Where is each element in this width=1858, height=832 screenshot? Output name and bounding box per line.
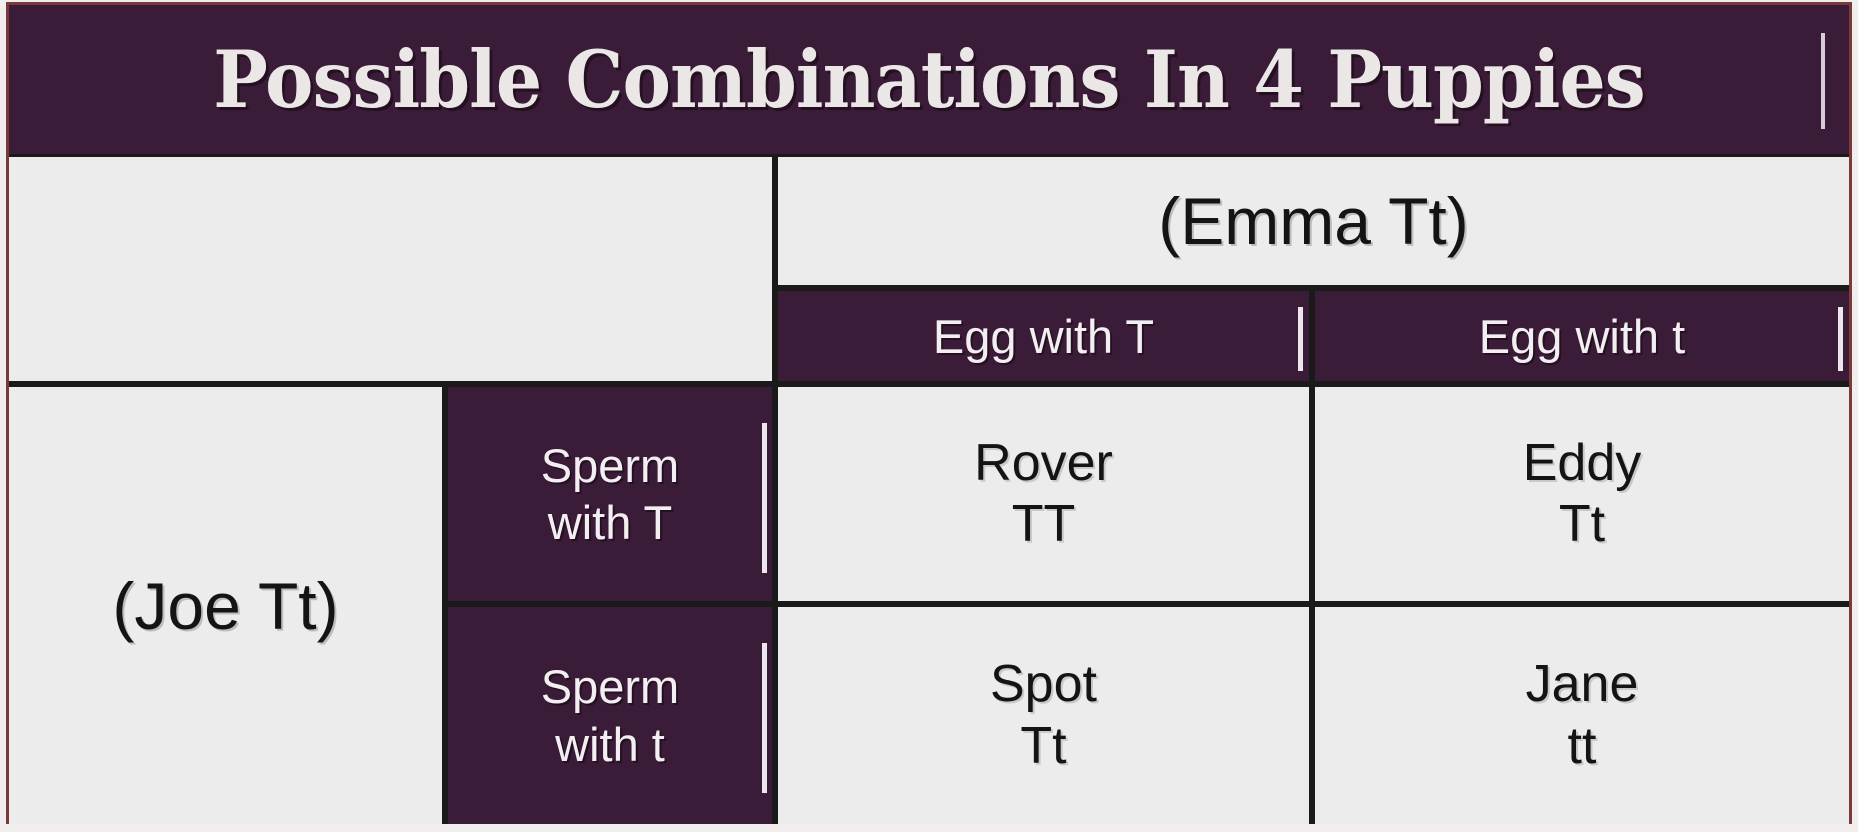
row-header-sperm-with-T-text: Sperm with T <box>541 437 679 552</box>
offspring-cell: Spot Tt <box>775 604 1312 824</box>
punnett-square-table: Possible Combinations In 4 Puppies (Emma… <box>6 2 1852 824</box>
row-header-sperm-with-t-text: Sperm with t <box>541 658 679 773</box>
column-header-egg-with-T-label: Egg with T <box>933 309 1154 364</box>
row-header-sperm-with-T: Sperm with T <box>445 384 775 604</box>
page-title: Possible Combinations In 4 Puppies <box>213 33 1645 126</box>
column-header-egg-with-T: Egg with T <box>775 288 1312 384</box>
offspring-name: Eddy <box>1523 433 1642 494</box>
offspring-genotype: TT <box>974 494 1113 555</box>
offspring-genotype: tt <box>1526 716 1639 777</box>
offspring-name: Jane <box>1526 654 1639 715</box>
table-title-bar: Possible Combinations In 4 Puppies <box>9 5 1849 157</box>
row-header-line-2: with t <box>541 716 679 773</box>
offspring-genotype: Tt <box>990 716 1097 777</box>
row-header-line-2: with T <box>541 494 679 551</box>
row-header-tick <box>762 423 767 573</box>
offspring-text: Jane tt <box>1526 654 1639 777</box>
offspring-name: Spot <box>990 654 1097 715</box>
offspring-text: Eddy Tt <box>1523 433 1642 556</box>
offspring-text: Spot Tt <box>990 654 1097 777</box>
offspring-genotype: Tt <box>1523 494 1642 555</box>
corner-blank-cell <box>9 157 775 384</box>
offspring-cell: Rover TT <box>775 384 1312 604</box>
row-header-line-1: Sperm <box>541 437 679 494</box>
offspring-text: Rover TT <box>974 433 1113 556</box>
column-header-egg-with-t-label: Egg with t <box>1479 309 1685 364</box>
father-parent-label: (Joe Tt) <box>9 384 445 824</box>
row-header-tick <box>762 643 767 793</box>
column-header-tick <box>1298 307 1303 371</box>
mother-parent-label: (Emma Tt) <box>775 157 1849 288</box>
row-header-line-1: Sperm <box>541 658 679 715</box>
row-header-sperm-with-t: Sperm with t <box>445 604 775 824</box>
punnett-grid: (Emma Tt) Egg with T Egg with t (Joe Tt)… <box>9 157 1849 821</box>
offspring-cell: Jane tt <box>1312 604 1849 824</box>
offspring-cell: Eddy Tt <box>1312 384 1849 604</box>
column-header-tick <box>1838 307 1843 371</box>
column-header-egg-with-t: Egg with t <box>1312 288 1849 384</box>
offspring-name: Rover <box>974 433 1113 494</box>
title-divider-tick <box>1821 33 1825 129</box>
